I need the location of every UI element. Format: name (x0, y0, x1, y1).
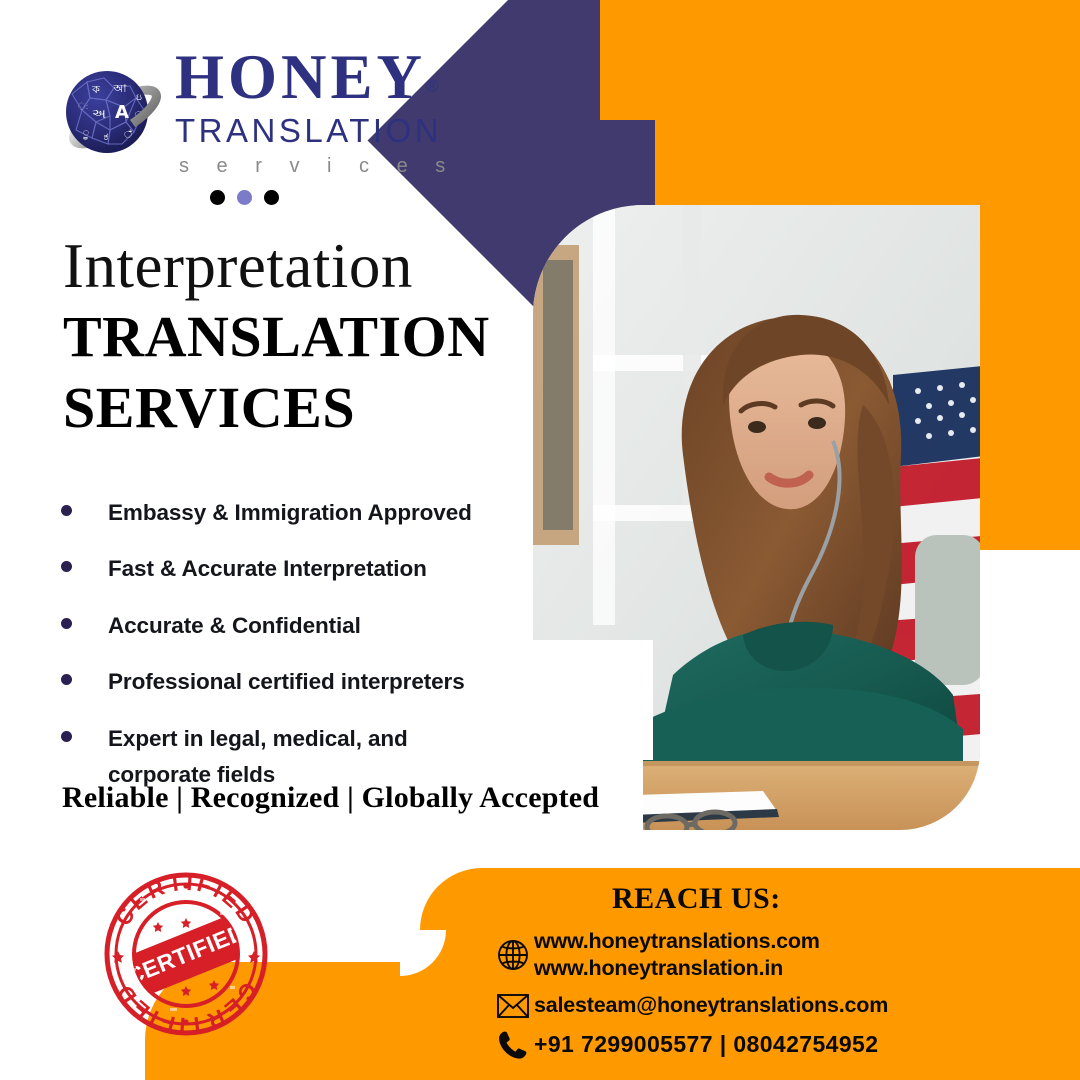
svg-text:আ: আ (113, 82, 127, 95)
feature-list: Embassy & Immigration Approved Fast & Ac… (55, 495, 535, 814)
list-item: Professional certified interpreters (55, 664, 535, 700)
svg-text:ઃ: ઃ (78, 102, 89, 113)
logo-wordmark: HONEY® (175, 48, 456, 108)
headline-bold-line2: SERVICES (63, 375, 533, 442)
certified-stamp-icon: CERTIFIED CERTIFIED CERT (100, 868, 272, 1040)
decor-orange-shape-secondary (600, 0, 930, 120)
website-primary[interactable]: www.honeytranslations.com (534, 929, 820, 953)
feature-text: Fast & Accurate Interpretation (108, 551, 427, 587)
bullet-icon (61, 674, 72, 685)
globe-icon (492, 938, 534, 972)
brand-logo: ক আ ઇ ઃ અ A ം ॗ ಕ ਁ HONEY® TRANSLATION s (52, 48, 456, 179)
feature-text: Accurate & Confidential (108, 608, 361, 644)
value-tagline: Reliable | Recognized | Globally Accepte… (62, 781, 599, 815)
svg-text:A: A (115, 102, 129, 123)
phone-numbers[interactable]: +91 7299005577 | 08042754952 (534, 1030, 878, 1059)
bullet-icon (61, 505, 72, 516)
bullet-icon (61, 618, 72, 629)
logo-tagline: s e r v i c e s (175, 153, 456, 179)
svg-text:ಕ: ಕ (104, 130, 109, 143)
headline-bold-line1: TRANSLATION (63, 304, 533, 371)
bullet-icon (61, 561, 72, 572)
feature-text: Professional certified interpreters (108, 664, 465, 700)
envelope-icon (492, 992, 534, 1020)
logo-subline: TRANSLATION (175, 110, 456, 151)
bullet-icon (61, 731, 72, 742)
headline-block: Interpretation TRANSLATION SERVICES (63, 232, 533, 441)
list-item: Embassy & Immigration Approved (55, 495, 535, 531)
list-item: Fast & Accurate Interpretation (55, 551, 535, 587)
decor-dots (210, 190, 279, 205)
website-secondary[interactable]: www.honeytranslation.in (534, 956, 783, 980)
list-item: Accurate & Confidential (55, 608, 535, 644)
contact-row-website[interactable]: www.honeytranslations.com www.honeytrans… (492, 928, 1052, 983)
svg-text:ॗ: ॗ (83, 126, 90, 139)
dot-3 (264, 190, 279, 205)
feature-text: Embassy & Immigration Approved (108, 495, 472, 531)
dot-2-accent (237, 190, 252, 205)
email-address[interactable]: salesteam@honeytranslations.com (534, 992, 888, 1019)
logo-name: HONEY (175, 42, 426, 112)
phone-icon (492, 1029, 534, 1061)
svg-text:ઇ: ઇ (136, 93, 142, 103)
svg-text:ক: ক (91, 83, 100, 96)
contact-row-email[interactable]: salesteam@honeytranslations.com (492, 992, 1052, 1020)
registered-mark-icon: ® (426, 77, 439, 96)
svg-text:અ: અ (92, 107, 106, 122)
svg-text:ਁ: ਁ (124, 130, 132, 141)
language-globe-icon: ক আ ઇ ઃ અ A ം ॗ ಕ ਁ (52, 60, 167, 168)
poster-canvas: ক আ ઇ ઃ અ A ം ॗ ಕ ਁ HONEY® TRANSLATION s (0, 0, 1080, 1080)
contact-row-phone[interactable]: +91 7299005577 | 08042754952 (492, 1029, 1052, 1061)
dot-1 (210, 190, 225, 205)
headline-script: Interpretation (63, 232, 533, 300)
contact-title: REACH US: (612, 882, 781, 916)
contact-details: www.honeytranslations.com www.honeytrans… (492, 928, 1052, 1070)
website-lines[interactable]: www.honeytranslations.com www.honeytrans… (534, 928, 820, 983)
